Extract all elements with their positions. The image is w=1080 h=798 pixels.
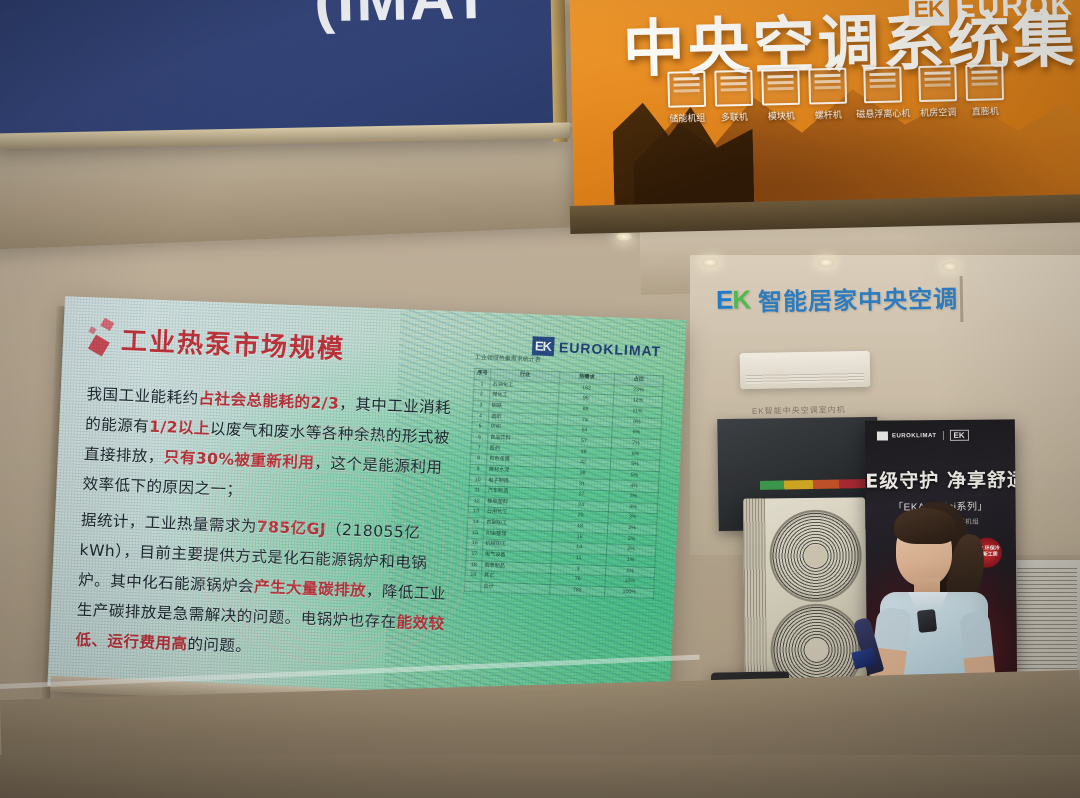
highlighted-text-run: 只有30%被重新利用 <box>163 448 314 472</box>
table-header-cell: 序号 <box>474 369 490 380</box>
display-gold-edge <box>551 0 568 142</box>
product-item-1: 多联机 <box>714 70 753 124</box>
table-cell: 3 <box>473 400 489 411</box>
outdoor-ac-unit <box>743 497 867 688</box>
poster-logo-ek: EK <box>949 430 968 441</box>
table-cell: 16 <box>467 539 483 550</box>
product-label: 直膨机 <box>972 104 999 118</box>
table-body: 1石油化工18223%2煤化工9612%3钢铁8811%4造纸749%5纺织64… <box>465 379 664 599</box>
direct-expansion-icon <box>965 64 1004 101</box>
ek-logo-mark: EK <box>908 0 949 26</box>
text-run: 据统计，工业热量需求为 <box>81 511 258 536</box>
presenter-neckerchief <box>917 609 937 633</box>
poster-logo-divider <box>942 431 943 440</box>
precision-ac-icon <box>918 65 957 102</box>
product-item-6: 直膨机 <box>965 64 1004 118</box>
spotlight-icon <box>702 258 718 267</box>
highlighted-text-run: 1/2以上 <box>149 418 211 438</box>
slide-data-table: 序号行业热需求占比 1石油化工18223%2煤化工9612%3钢铁8811%4造… <box>464 368 664 600</box>
table-cell: 6 <box>471 432 487 443</box>
color-stripe-graphic <box>760 479 870 490</box>
overhead-display-text: (IMAT <box>314 0 493 36</box>
slide-paragraph-1: 我国工业能耗约占社会总能耗的2/3，其中工业消耗的能源有1/2以上以废气和废水等… <box>82 379 459 513</box>
table-cell: 13 <box>468 507 484 518</box>
poster-headline: E级守护 净享舒适 <box>865 465 1015 493</box>
slide-logo-mark: EK <box>532 336 555 356</box>
product-item-3: 螺杆机 <box>808 68 847 122</box>
highlighted-text-run: 产生大量碳排放 <box>254 578 367 600</box>
modular-chiller-icon <box>761 69 800 106</box>
table-cell: 9 <box>470 464 486 475</box>
wall-sign-logo: EK <box>716 284 751 316</box>
table-cell: 10 <box>469 475 485 486</box>
table-cell <box>465 581 481 592</box>
orange-banner: 中央空调系统集 EK EUROK 储能机组 多联机 模块机 螺杆机 <box>570 0 1080 219</box>
slide-table-caption: 工业领域热量需求统计表 <box>475 352 541 364</box>
table-cell: 14 <box>467 517 483 528</box>
slide-title: 工业热泵市场规模 <box>120 320 346 366</box>
table-cell: 12 <box>468 496 484 507</box>
highlighted-text-run: 占社会总能耗的2/3 <box>198 389 339 412</box>
spotlight-icon <box>616 232 632 241</box>
energy-storage-icon <box>667 71 706 108</box>
poster-logo-mark <box>877 431 888 440</box>
product-label: 储能机组 <box>669 111 705 125</box>
product-label: 多联机 <box>721 110 748 124</box>
product-label: 螺杆机 <box>815 108 842 122</box>
ac-side-grille <box>743 498 767 688</box>
ac-fan-icon <box>769 509 862 602</box>
presenter-hair-front <box>894 508 956 544</box>
indoor-unit-label: EK智能中央空调室内机 <box>752 404 846 417</box>
ac-vent <box>746 373 864 384</box>
vrf-unit-icon <box>714 70 753 107</box>
floor-foreground <box>0 755 1080 798</box>
product-label: 磁悬浮离心机 <box>856 106 910 120</box>
table-cell: 100% <box>605 587 654 600</box>
indoor-ac-unit <box>740 351 871 389</box>
slide-paragraph-2: 据统计，工业热量需求为785亿GJ（218055亿kWh），目前主要提供方式是化… <box>75 505 454 669</box>
exhibition-booth-photo: (IMAT 中央空调系统集 EK EUROK 储能机组 多联机 模块机 <box>0 0 1080 798</box>
poster-logo-word: EUROKLIMAT <box>892 433 937 439</box>
table-cell: 2 <box>473 390 489 401</box>
spotlight-icon <box>818 258 834 267</box>
table-cell: 11 <box>469 485 485 496</box>
product-item-5: 机房空调 <box>918 65 957 119</box>
product-label: 机房空调 <box>920 105 956 119</box>
ek-logo-word: EUROK <box>955 0 1074 25</box>
table-cell: 15 <box>467 528 483 539</box>
slide-surface: 工业热泵市场规模 EK EUROKLIMAT 我国工业能耗约占社会总能耗的2/3… <box>47 296 686 709</box>
magnetic-centrifugal-icon <box>863 66 902 103</box>
table-cell: 18 <box>466 560 482 571</box>
wall-brand-sign: EK 智能居家中央空调 <box>716 279 959 318</box>
highlighted-text-run: 785亿GJ <box>256 518 326 539</box>
fan-hub <box>804 545 826 567</box>
table-cell: 785 <box>549 584 605 597</box>
table-cell: 19 <box>465 571 481 582</box>
wall-sign-text: 智能居家中央空调 <box>758 279 959 317</box>
table-cell: 1 <box>474 379 490 390</box>
product-label: 模块机 <box>768 109 795 123</box>
table-cell: 4 <box>472 411 488 422</box>
banner-brand-logo: EK EUROK <box>908 0 1074 26</box>
table-cell: 17 <box>466 549 482 560</box>
banner-product-icon-row: 储能机组 多联机 模块机 螺杆机 磁悬浮离心机 机房空调 <box>667 62 1080 125</box>
poster-brand-logo: EUROKLIMAT EK <box>877 430 969 442</box>
fan-hub <box>805 639 827 661</box>
slide-brand-logo: EK EUROKLIMAT <box>532 336 662 360</box>
screw-chiller-icon <box>808 68 847 105</box>
slide-logo-word: EUROKLIMAT <box>559 339 662 359</box>
text-run: 我国工业能耗约 <box>86 385 199 407</box>
product-item-2: 模块机 <box>761 69 800 123</box>
table-cell: 8 <box>470 454 486 465</box>
spotlight-icon <box>942 262 958 271</box>
product-item-4: 磁悬浮离心机 <box>855 66 910 120</box>
table-cell: 7 <box>471 443 487 454</box>
table-cell: 5 <box>472 422 488 433</box>
product-item-0: 储能机组 <box>667 71 706 125</box>
text-run: 的问题。 <box>187 635 252 655</box>
table-cell: 合计 <box>481 582 550 595</box>
projection-screen: 工业热泵市场规模 EK EUROKLIMAT 我国工业能耗约占社会总能耗的2/3… <box>47 296 686 709</box>
